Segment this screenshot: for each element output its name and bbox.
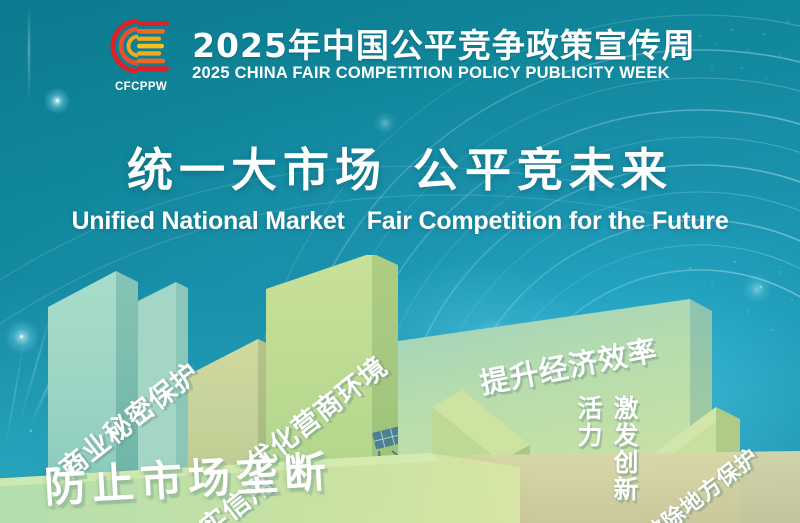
slogan-cn-right: 公平竞未来 — [413, 143, 673, 197]
slogan-cn-left: 统一大市场 — [127, 143, 387, 197]
header-title-en: 2025 CHINA FAIR COMPETITION POLICY PUBLI… — [192, 64, 696, 82]
logo-wordmark: CFCPPW — [104, 81, 178, 93]
slogan-cn: 统一大市场公平竞未来 — [0, 134, 800, 200]
cfcppw-emblem-icon: CFCPPW — [104, 18, 178, 92]
pillar-label-innovation: 激发创新活力 — [570, 395, 642, 523]
header-titles: 2025年中国公平竞争政策宣传周 2025 CHINA FAIR COMPETI… — [192, 28, 696, 83]
slogan-en: Unified National MarketFair Competition … — [0, 207, 800, 236]
slogan-en-left: Unified National Market — [71, 207, 344, 235]
slogan-block: 统一大市场公平竞未来 Unified National MarketFair C… — [0, 134, 800, 236]
header-band: CFCPPW 2025年中国公平竞争政策宣传周 2025 CHINA FAIR … — [0, 14, 800, 96]
sparkle-glow — [374, 112, 396, 134]
poster-canvas: CFCPPW 2025年中国公平竞争政策宣传周 2025 CHINA FAIR … — [0, 0, 800, 523]
slogan-en-right: Fair Competition for the Future — [367, 207, 729, 235]
sparkle-dot — [56, 99, 59, 102]
header-title-cn: 2025年中国公平竞争政策宣传周 — [192, 28, 696, 64]
